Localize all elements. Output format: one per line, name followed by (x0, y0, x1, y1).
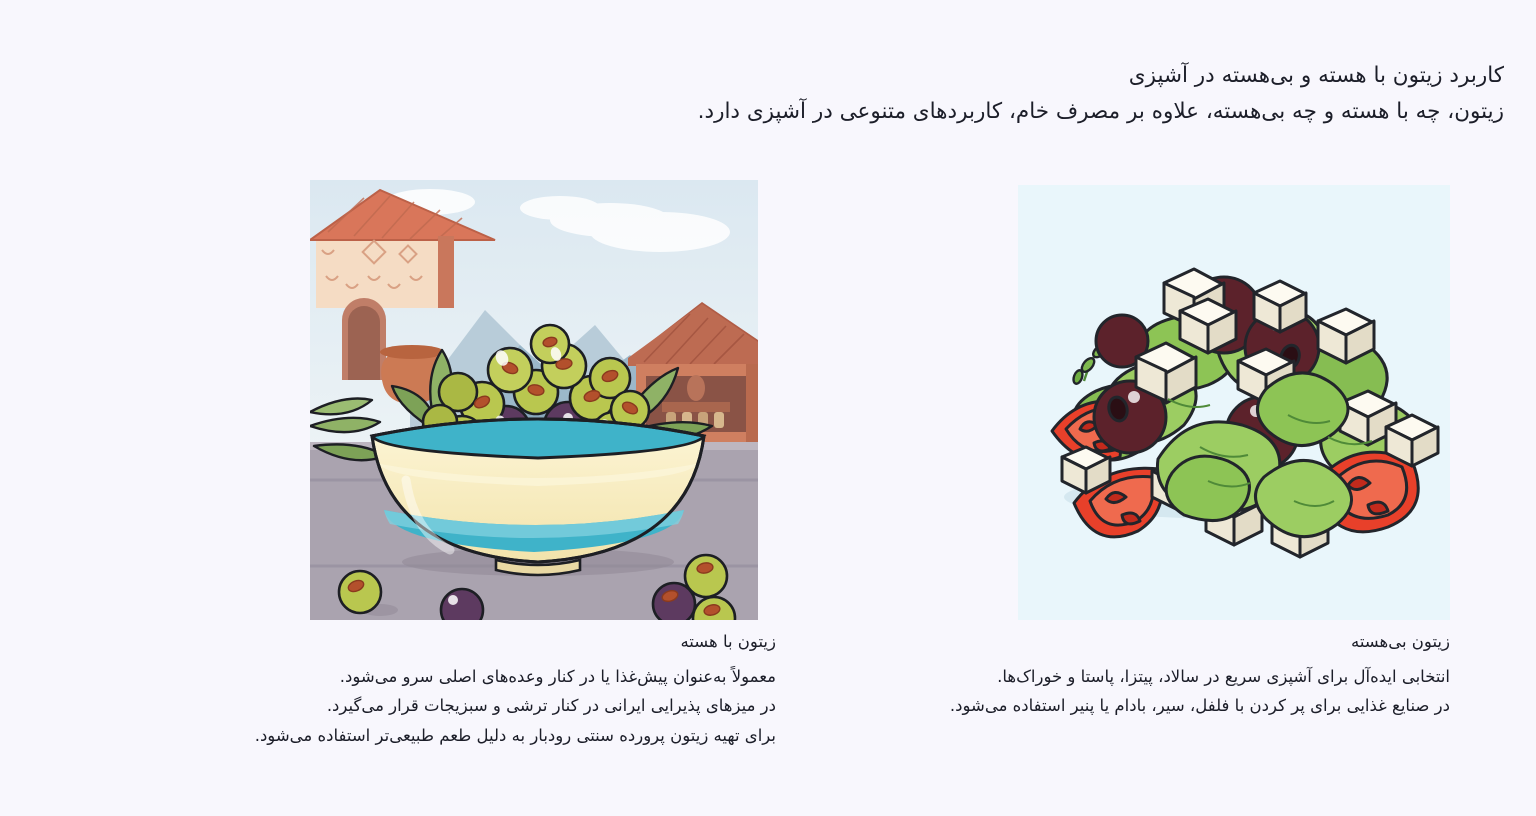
caption-line-right-1: انتخابی ایده‌آل برای آشپزی سریع در سالاد… (770, 662, 1450, 691)
caption-area: زیتون با هسته معمولاً به‌عنوان پیش‌غذا ی… (0, 628, 1536, 803)
figure-olives-pitted (1018, 185, 1450, 620)
greek-salad-illustration (1018, 185, 1450, 620)
caption-line-left-2: در میزهای پذیرایی ایرانی در کنار ترشی و … (86, 691, 776, 720)
bowl-of-olives-illustration (310, 180, 758, 620)
caption-line-left-1: معمولاً به‌عنوان پیش‌غذا یا در کنار وعده… (86, 662, 776, 691)
page-title: کاربرد زیتون با هسته و بی‌هسته در آشپزی (34, 58, 1504, 94)
figure-olives-with-pit (310, 180, 758, 620)
figure-gallery (0, 180, 1536, 625)
intro-block: کاربرد زیتون با هسته و بی‌هسته در آشپزی … (34, 58, 1504, 130)
caption-line-left-3: برای تهیه زیتون پرورده سنتی رودبار به دل… (86, 721, 776, 750)
column-olives-with-pit: زیتون با هسته معمولاً به‌عنوان پیش‌غذا ی… (86, 628, 776, 750)
page-subtitle: زیتون، چه با هسته و چه بی‌هسته، علاوه بر… (34, 94, 1504, 130)
column-olives-pitted: زیتون بی‌هسته انتخابی ایده‌آل برای آشپزی… (770, 628, 1450, 720)
caption-line-right-2: در صنایع غذایی برای پر کردن با فلفل، سیر… (770, 691, 1450, 720)
caption-title-left: زیتون با هسته (86, 628, 776, 656)
caption-title-right: زیتون بی‌هسته (770, 628, 1450, 656)
